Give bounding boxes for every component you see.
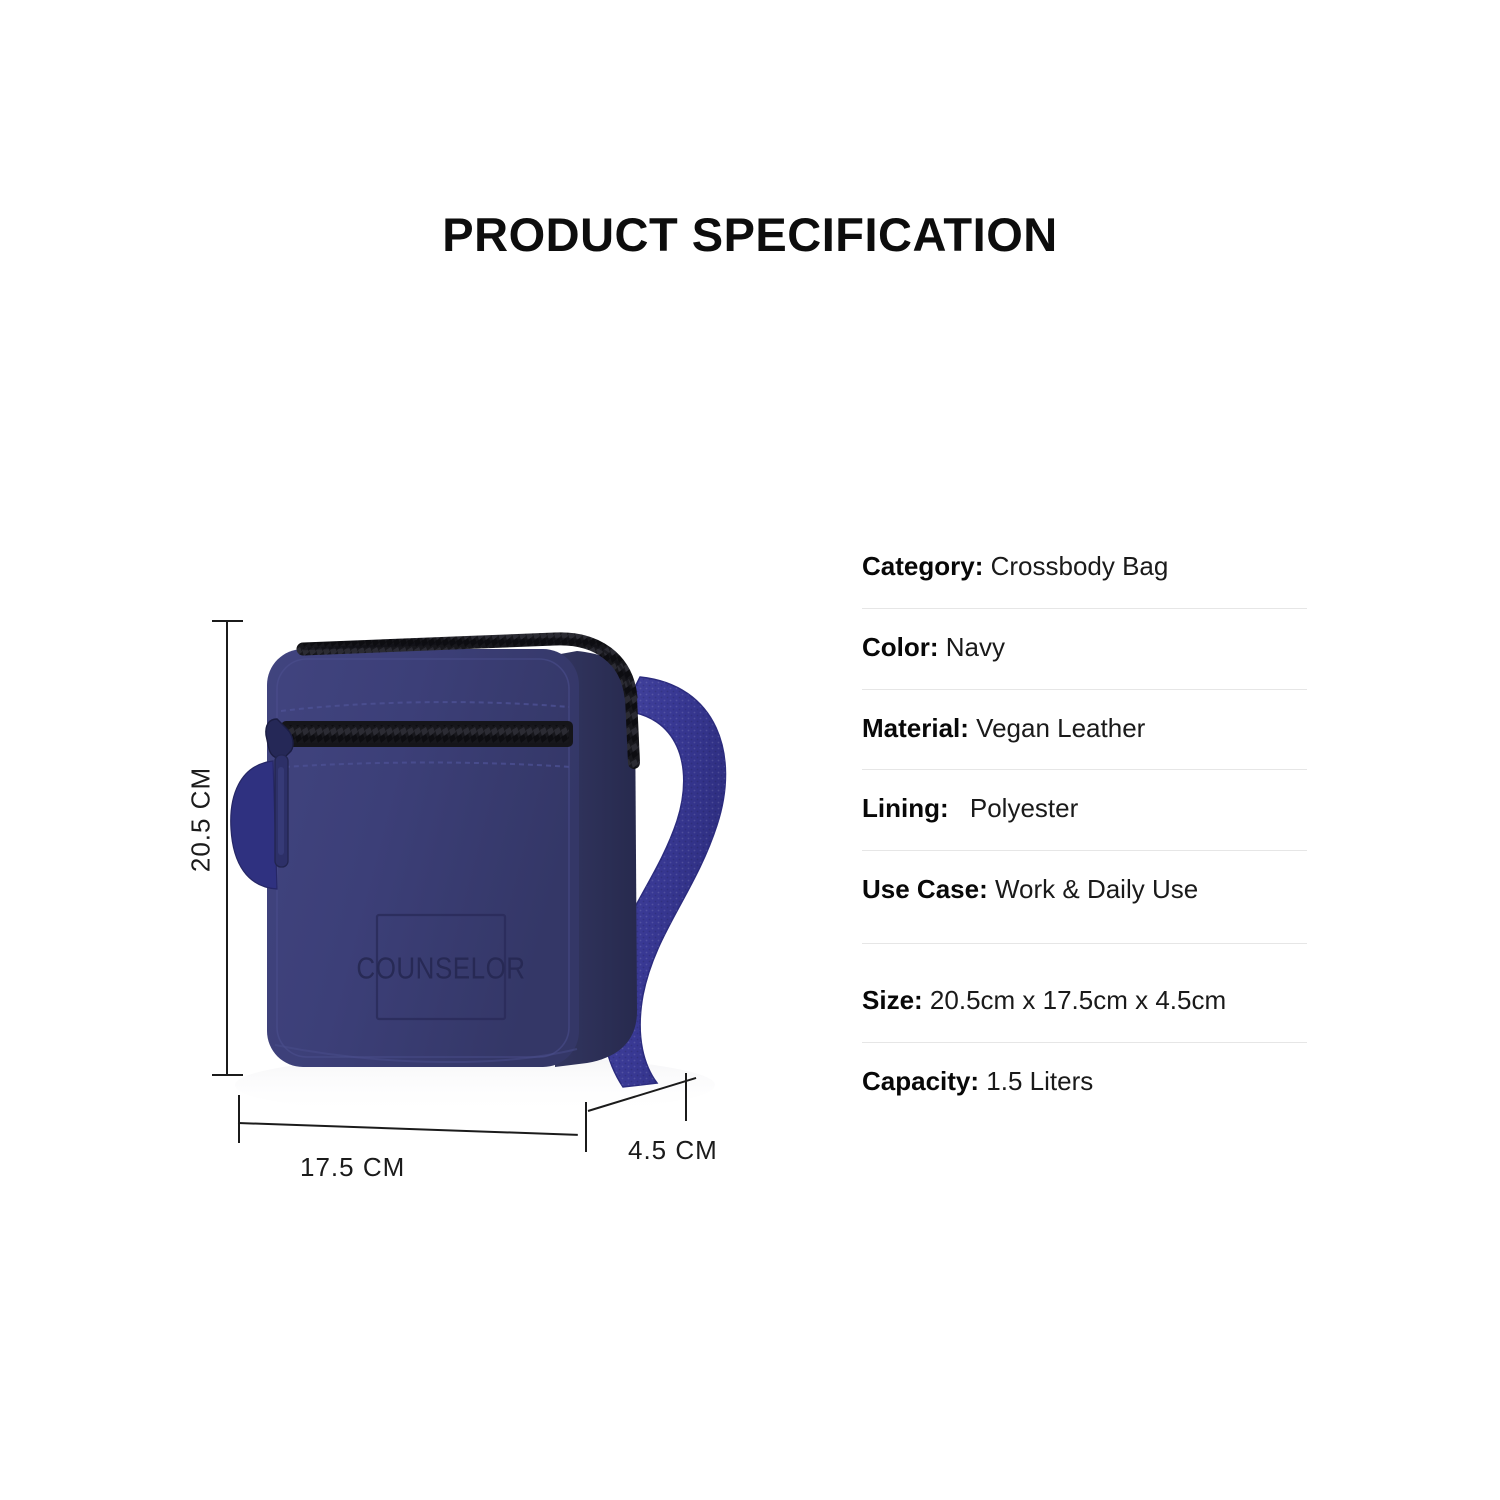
product-figure: COUNSELOR 20.5 CM 17.5 CM 4.5 CM	[180, 590, 780, 1210]
spec-label-capacity: Capacity:	[862, 1066, 979, 1096]
spec-row-capacity: Capacity: 1.5 Liters	[862, 1065, 1307, 1099]
height-tick-bottom	[212, 1074, 243, 1076]
width-tick-left	[238, 1095, 240, 1143]
spec-label-material: Material:	[862, 713, 969, 743]
spec-row-category: Category: Crossbody Bag	[862, 550, 1307, 609]
spec-row-lining: Lining: Polyester	[862, 792, 1307, 851]
spec-row-use-case: Use Case: Work & Daily Use	[862, 873, 1307, 944]
specification-list: Category: Crossbody Bag Color: Navy Mate…	[862, 550, 1307, 1099]
spec-value-category: Crossbody Bag	[991, 551, 1169, 581]
depth-tick-right	[685, 1073, 687, 1121]
spec-label-category: Category:	[862, 551, 983, 581]
page-title: PRODUCT SPECIFICATION	[0, 208, 1500, 262]
spec-label-use-case: Use Case:	[862, 874, 988, 904]
height-dimension-label: 20.5 CM	[186, 755, 217, 885]
spec-label-lining: Lining:	[862, 793, 949, 823]
strap-attachment-tab	[231, 761, 277, 889]
spec-value-lining: Polyester	[970, 793, 1078, 823]
bag-front-panel	[267, 649, 579, 1067]
spec-value-material: Vegan Leather	[976, 713, 1145, 743]
spec-row-material: Material: Vegan Leather	[862, 712, 1307, 771]
spec-value-size: 20.5cm x 17.5cm x 4.5cm	[930, 985, 1226, 1015]
width-dimension-label: 17.5 CM	[300, 1152, 405, 1183]
spec-value-use-case: Work & Daily Use	[995, 874, 1198, 904]
spec-label-size: Size:	[862, 985, 923, 1015]
height-tick-top	[212, 620, 243, 622]
bag-image: COUNSELOR	[225, 615, 765, 1125]
spec-value-capacity: 1.5 Liters	[986, 1066, 1093, 1096]
spec-row-color: Color: Navy	[862, 631, 1307, 690]
height-dimension-line	[226, 620, 228, 1075]
spec-row-size: Size: 20.5cm x 17.5cm x 4.5cm	[862, 984, 1307, 1043]
spec-value-color: Navy	[946, 632, 1005, 662]
depth-dimension-label: 4.5 CM	[628, 1135, 718, 1166]
spec-label-color: Color:	[862, 632, 939, 662]
brand-logo-text: COUNSELOR	[356, 951, 525, 986]
